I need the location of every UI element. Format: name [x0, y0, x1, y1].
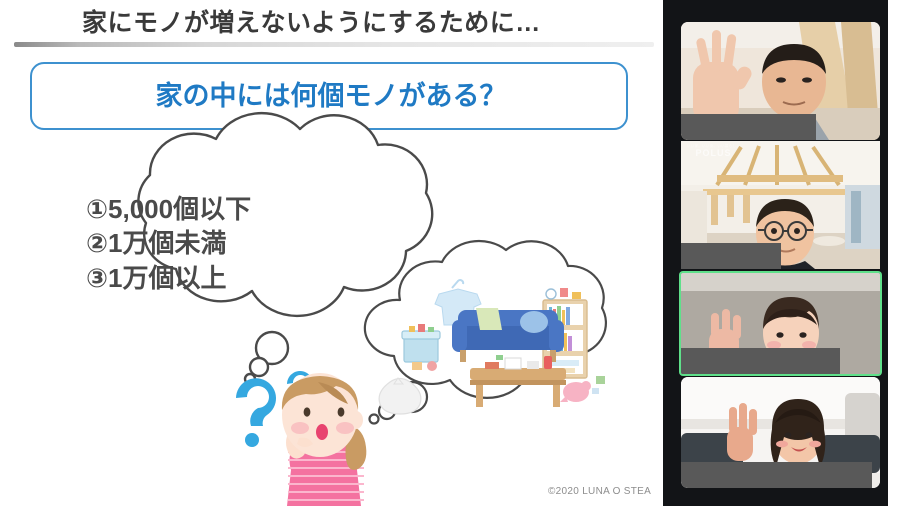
- answer-option-1: ①5,000個以下: [86, 192, 386, 226]
- small-blue-item-icon: [592, 388, 599, 394]
- tile-3-name-redaction: [681, 348, 840, 374]
- toy-figure-icon: [560, 381, 591, 402]
- room-illustration: [379, 280, 605, 414]
- participant-tile-3[interactable]: [681, 273, 880, 374]
- thinking-girl-illustration: [282, 373, 366, 506]
- sofa-icon: [452, 308, 564, 362]
- copyright-notice: ©2020 LUNA O STEA: [548, 486, 651, 497]
- polus-watermark-text: POLUS: [696, 148, 732, 158]
- tile-4-name-redaction: [681, 462, 872, 488]
- title-divider: [14, 42, 654, 47]
- polus-watermark: いい家。いい街。いい暮らし。 POLUS: [687, 145, 740, 158]
- participant-tile-1[interactable]: [681, 22, 880, 140]
- bookshelf-icon: [543, 288, 587, 378]
- question-mark-icons: [236, 371, 313, 447]
- right-white-margin: [888, 0, 900, 506]
- toy-box-icon: [402, 324, 440, 371]
- small-green-item-icon: [596, 376, 605, 384]
- participant-tile-4[interactable]: [681, 377, 880, 488]
- answer-options-list: ①5,000個以下 ②1万個未満 ③1万個以上: [86, 192, 386, 295]
- page-title: 家にモノが増えないようにするために…: [82, 6, 642, 40]
- coffee-table-icon: [470, 355, 566, 407]
- question-text: 家の中には何個モノがある？: [32, 64, 630, 128]
- beanbag-icon: [379, 378, 421, 414]
- question-callout-box: 家の中には何個モノがある？: [30, 62, 628, 130]
- slide-content-area: 家にモノが増えないようにするために… 家の中には何個モノがある？: [0, 0, 663, 506]
- participant-tile-list: いい家。いい街。いい暮らし。 POLUS: [681, 22, 880, 488]
- answer-option-2: ②1万個未満: [86, 226, 386, 260]
- tile-1-name-redaction: [681, 114, 816, 140]
- presentation-screen-share: 家にモノが増えないようにするために… 家の中には何個モノがある？: [0, 0, 900, 506]
- hanging-shirt-icon: [435, 280, 481, 325]
- participant-tile-2[interactable]: いい家。いい街。いい暮らし。 POLUS: [681, 141, 880, 269]
- video-participant-rail: いい家。いい街。いい暮らし。 POLUS: [663, 0, 888, 506]
- right-thought-bubble: [365, 241, 606, 423]
- tile-2-name-redaction: [681, 243, 781, 269]
- answer-option-3: ③1万個以上: [86, 261, 386, 295]
